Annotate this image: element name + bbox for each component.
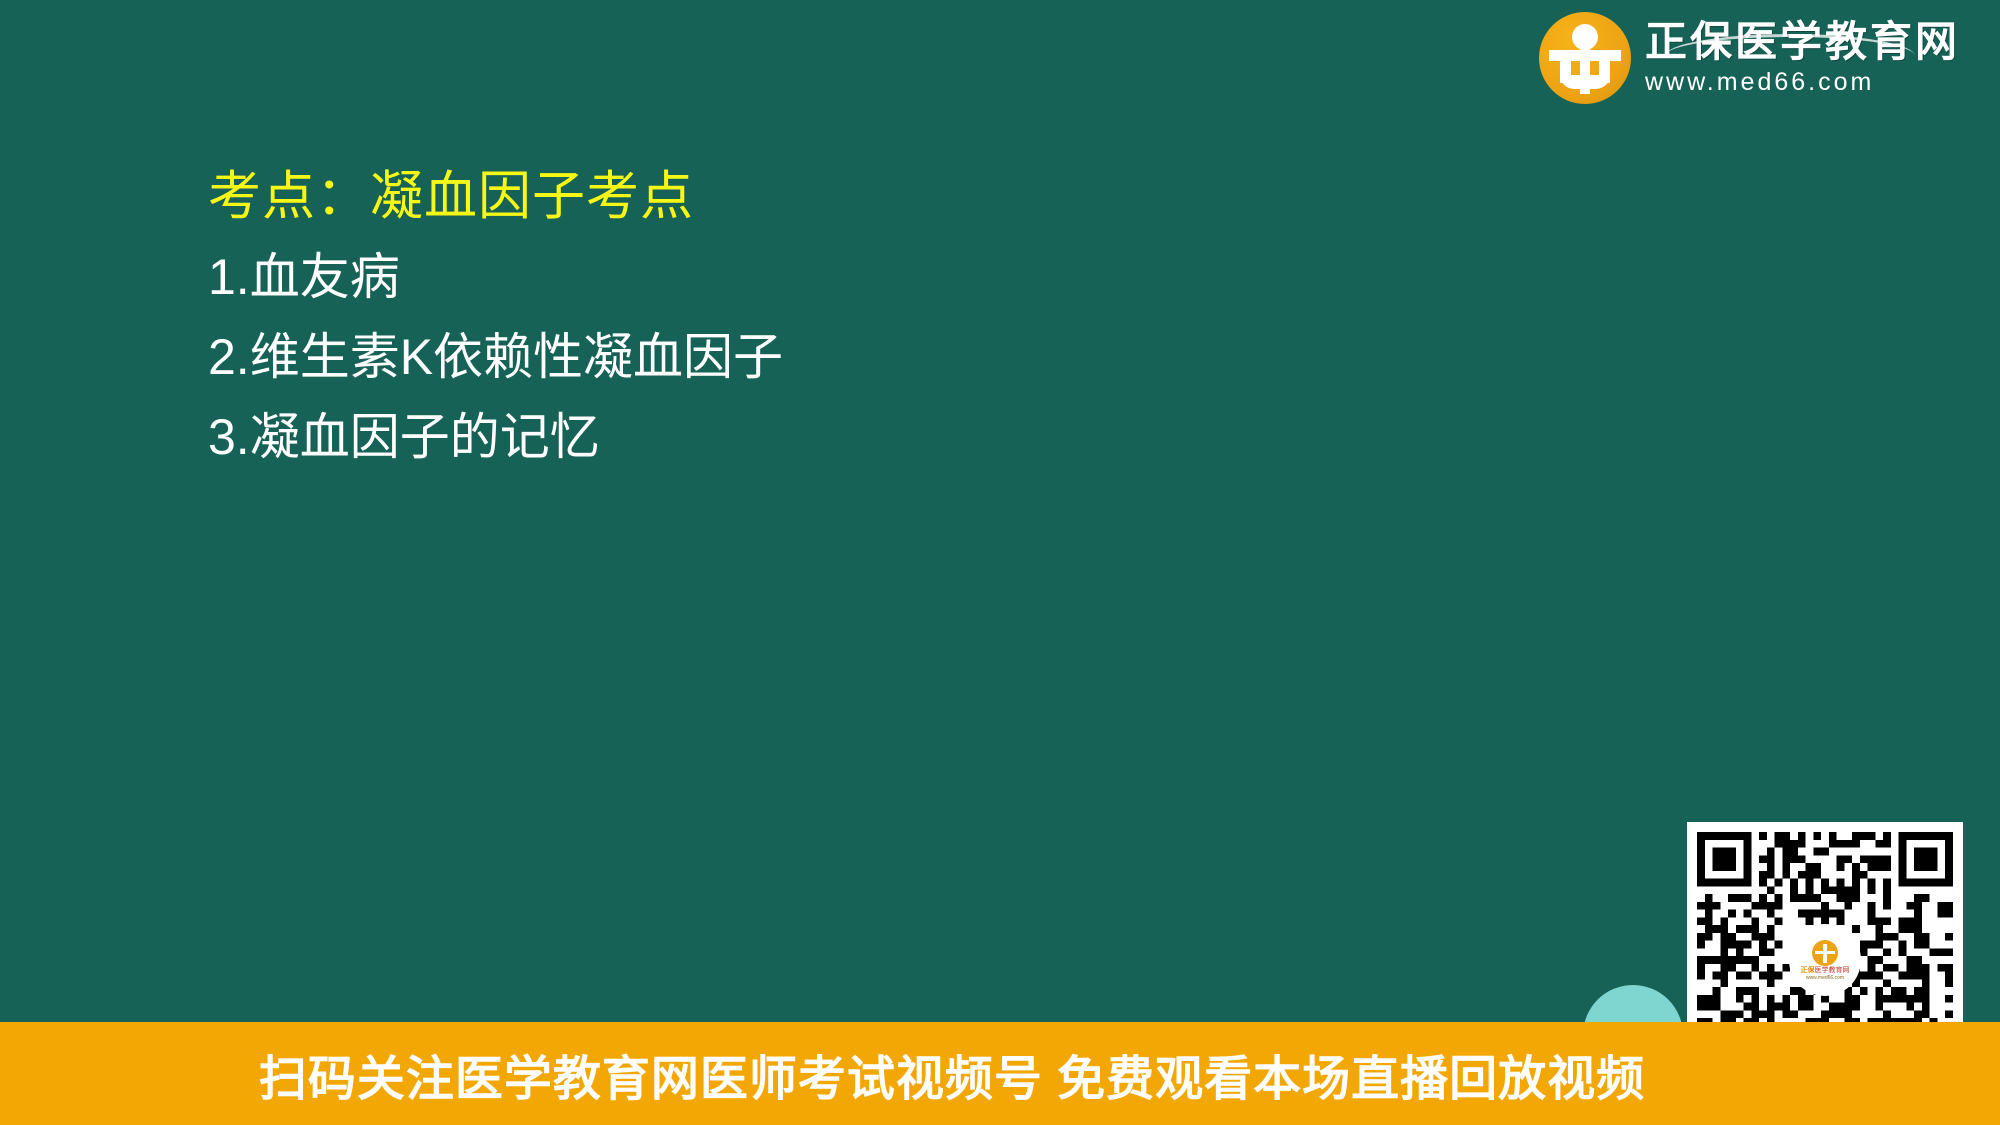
slide-text-block: 考点：凝血因子考点 1.血友病 2.维生素K依赖性凝血因子 3.凝血因子的记忆 <box>208 165 1388 469</box>
qr-center-brand-suffix: 医学教育网 <box>1815 967 1850 974</box>
brand-text-group: 正保医学教育网 www.med66.com <box>1645 19 1960 97</box>
qr-center-brand-name: 正保医学教育网 <box>1801 967 1850 975</box>
banner-text: 扫码关注医学教育网医师考试视频号 免费观看本场直播回放视频 <box>259 1039 1645 1109</box>
qr-center-cross-icon <box>1812 940 1838 966</box>
qr-center-brand-prefix: 正保 <box>1801 967 1815 974</box>
brand-logo: 正保医学教育网 www.med66.com <box>1539 12 1960 104</box>
brand-name: 正保医学教育网 <box>1645 19 1960 65</box>
qr-center-logo: 正保医学教育网 www.med66.com <box>1791 926 1859 994</box>
page-title: 考点：凝血因子考点 <box>208 165 1388 229</box>
brand-url: www.med66.com <box>1645 67 1960 97</box>
qr-center-url: www.med66.com <box>1806 975 1844 981</box>
list-item: 2.维生素K依赖性凝血因子 <box>208 325 1388 389</box>
bottom-banner: 扫码关注医学教育网医师考试视频号 免费观看本场直播回放视频 <box>0 1022 2000 1125</box>
slide-canvas: 正保医学教育网 www.med66.com 考点：凝血因子考点 1.血友病 2.… <box>0 0 2000 1125</box>
medical-cross-logo-icon <box>1539 12 1631 104</box>
list-item: 3.凝血因子的记忆 <box>208 405 1388 469</box>
list-item: 1.血友病 <box>208 245 1388 309</box>
